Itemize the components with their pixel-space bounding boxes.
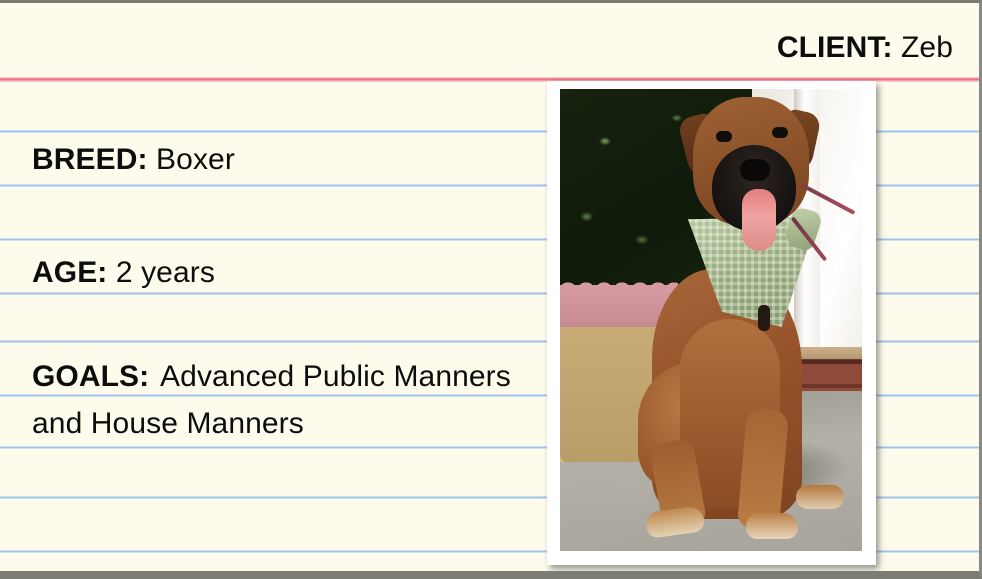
client-label: CLIENT:: [777, 31, 893, 64]
client-value: Zeb: [901, 31, 953, 64]
dog-photo-frame: [547, 81, 876, 565]
breed-field: BREED: Boxer: [32, 139, 235, 181]
dog-eye-left: [716, 131, 732, 142]
dog-nose: [740, 159, 770, 181]
age-value: 2 years: [116, 256, 215, 289]
age-field: AGE: 2 years: [32, 252, 215, 294]
index-card-slide: CLIENT: Zeb BREED: Boxer AGE: 2 years GO…: [0, 0, 982, 579]
dog-eye-right: [772, 127, 788, 138]
goals-field: GOALS: Advanced Public Manners and House…: [32, 353, 532, 447]
client-field: CLIENT: Zeb: [777, 27, 953, 69]
dog-paw-rear: [796, 485, 844, 509]
dog-paw-right: [746, 513, 798, 539]
collar-tag: [758, 305, 770, 331]
breed-label: BREED:: [32, 143, 148, 176]
breed-value: Boxer: [156, 143, 235, 176]
dog-photo: [560, 89, 862, 551]
age-label: AGE:: [32, 256, 107, 289]
dog-tongue: [742, 189, 776, 251]
goals-label: GOALS:: [32, 360, 149, 393]
